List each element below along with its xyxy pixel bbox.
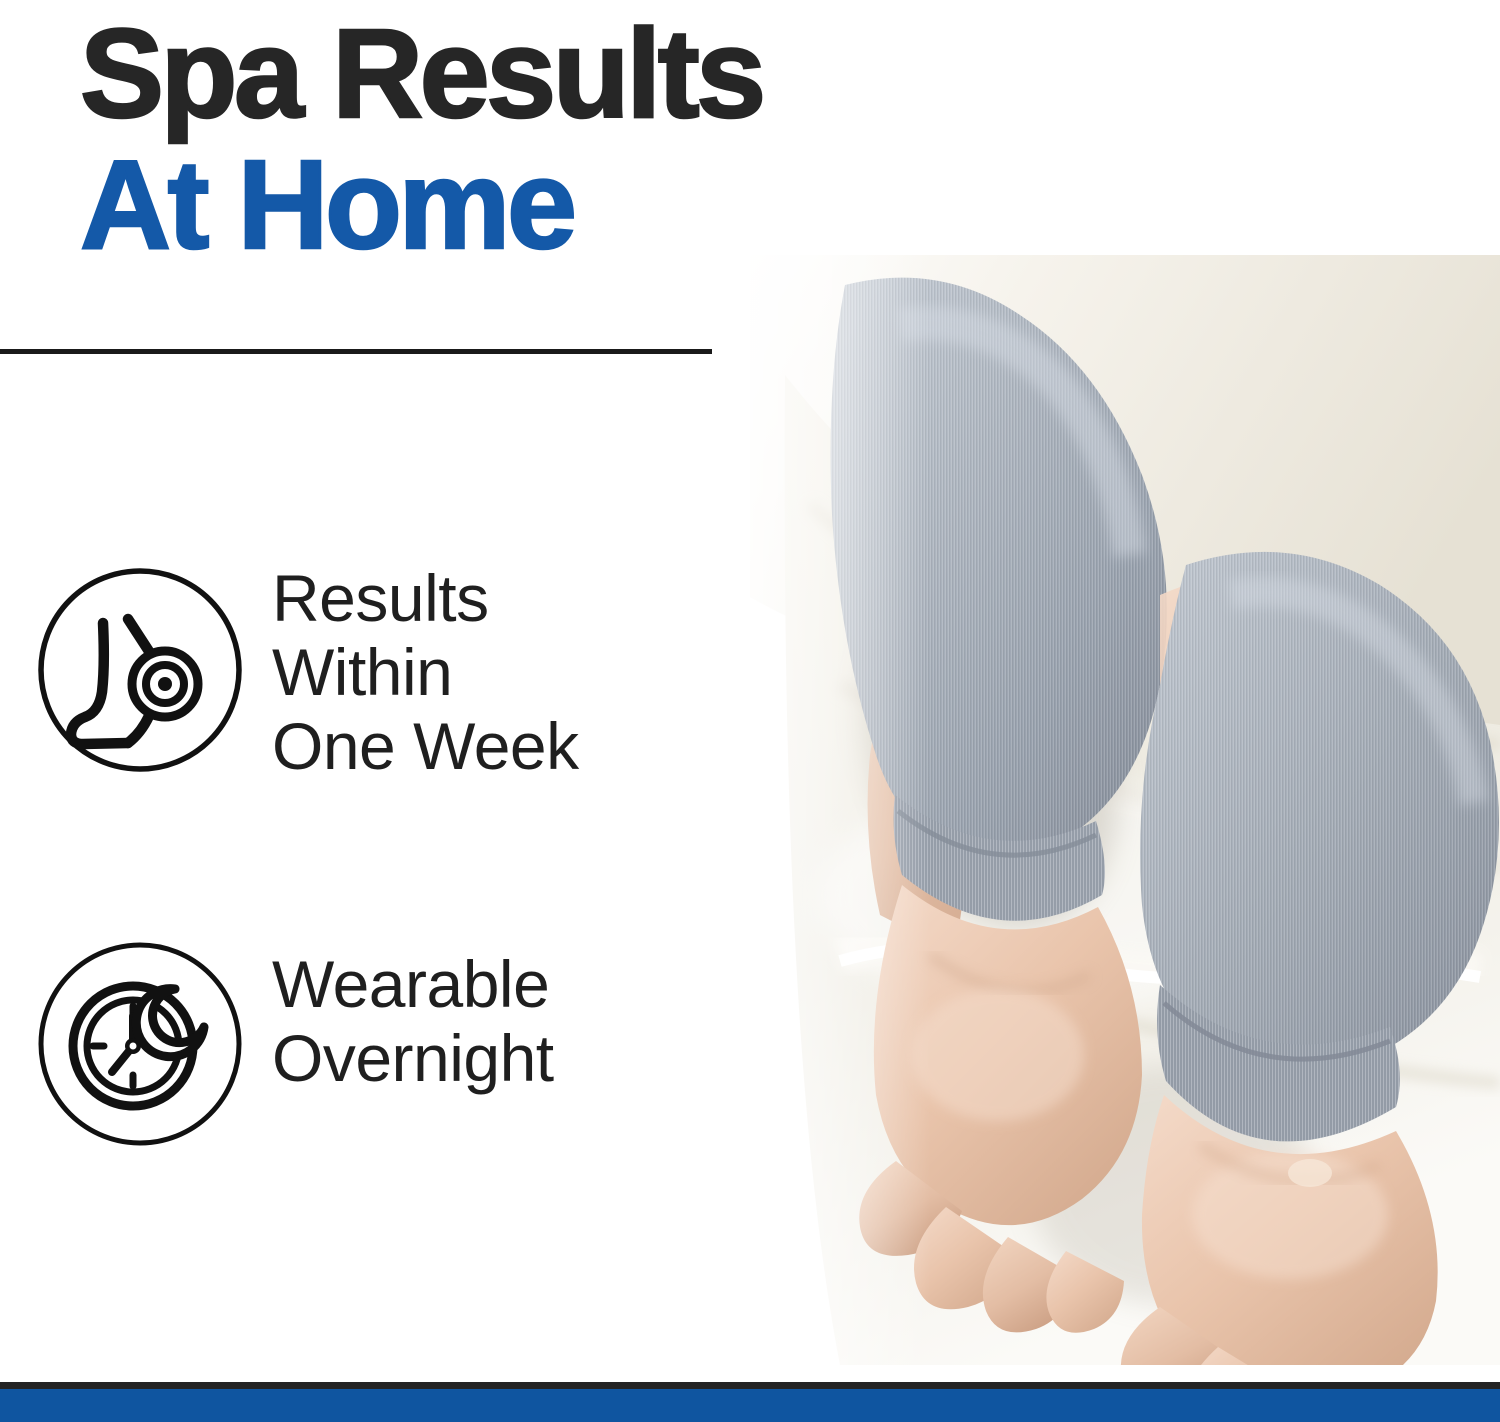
footer-dark-bar [0, 1382, 1500, 1389]
feature-item-wearable-overnight: Wearable Overnight [0, 934, 740, 1148]
foot-heel-target-icon [36, 566, 244, 774]
feature-item-results-within-one-week: Results Within One Week [0, 560, 740, 784]
footer-blue-bar [0, 1389, 1500, 1422]
headline-line-secondary: At Home [80, 139, 1040, 270]
headline-line-primary: Spa Results [80, 8, 1040, 139]
headline: Spa Results At Home [80, 8, 1040, 270]
product-photo [690, 255, 1500, 1365]
product-feature-banner: Spa Results At Home Res [0, 0, 1500, 1422]
feature-label: Results Within One Week [272, 560, 740, 784]
feature-label: Wearable Overnight [272, 934, 740, 1096]
feature-list: Results Within One Week [0, 560, 740, 1298]
clock-moon-overnight-icon [36, 940, 244, 1148]
headline-divider [0, 349, 712, 354]
